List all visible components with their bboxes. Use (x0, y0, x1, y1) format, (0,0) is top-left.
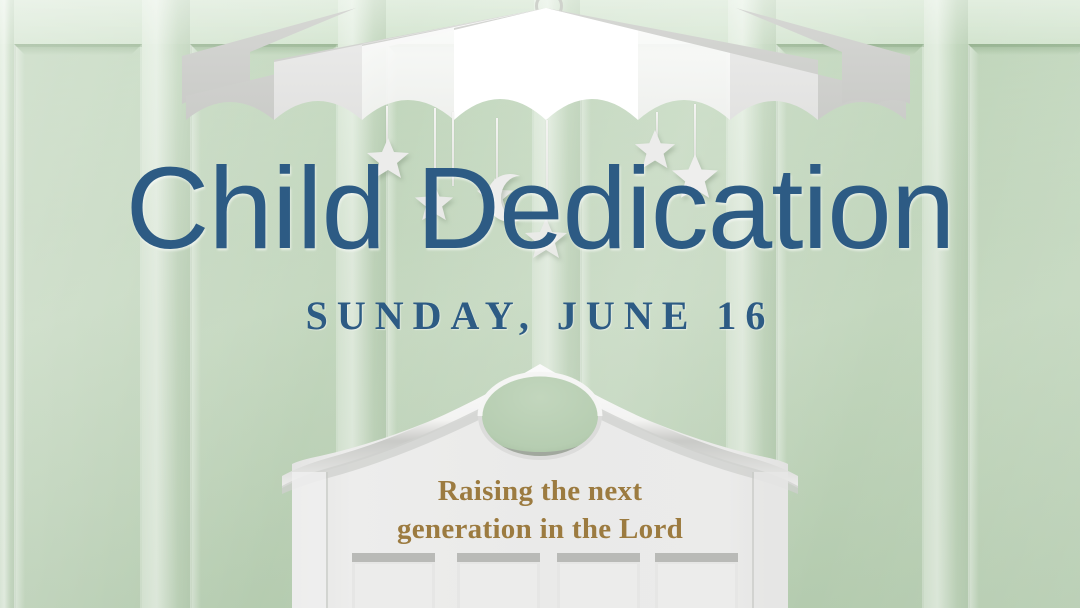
tagline-line-1: Raising the next (340, 472, 740, 510)
crib-headboard: Raising the next generation in the Lord (0, 360, 1080, 608)
poster-canvas: Child Dedication SUNDAY, JUNE 16 (0, 0, 1080, 608)
page-title: Child Dedication (0, 150, 1080, 266)
tagline: Raising the next generation in the Lord (340, 472, 740, 549)
event-date: SUNDAY, JUNE 16 (0, 292, 1080, 339)
canopy-tent-icon (0, 0, 1080, 140)
tagline-line-2: generation in the Lord (340, 510, 740, 548)
